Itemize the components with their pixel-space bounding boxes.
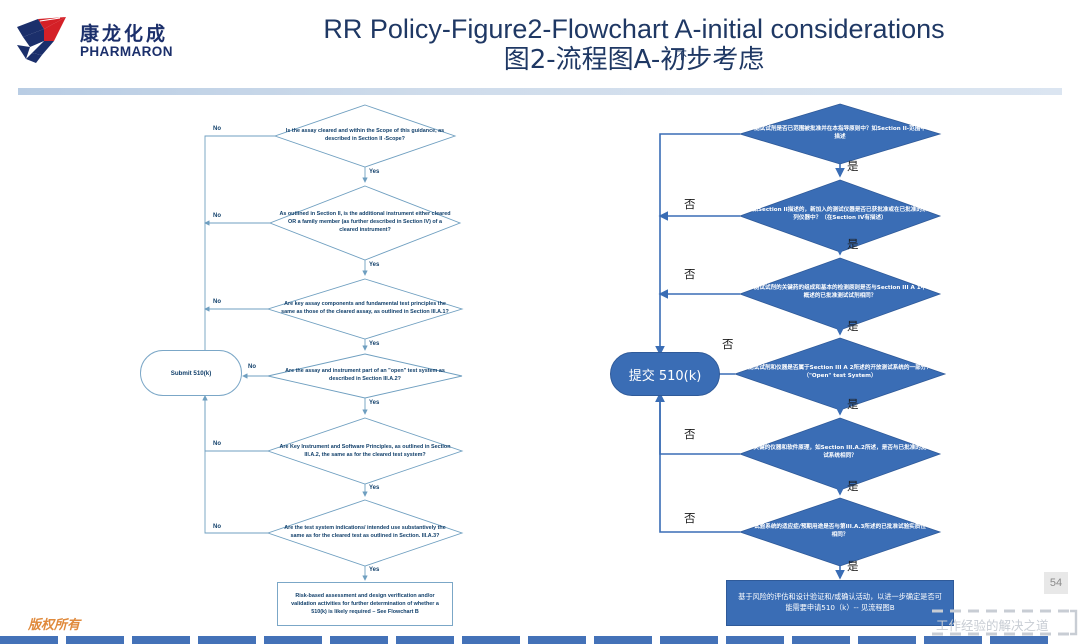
terminator-node-submit-510k: Submit 510(k): [140, 350, 242, 396]
edge-label-no: 否: [684, 196, 696, 212]
edge-label-no: No: [248, 364, 256, 370]
node-text: 测试试剂是否已范围被批准并在本指导原则中？如Section II-范围中描述: [748, 126, 932, 142]
terminator-node-submit-510k: 提交 510(k): [610, 352, 720, 396]
edge-label-yes: 是: [847, 558, 859, 574]
decision-node: 试验系统的适应症/预期用途是否与第III.A.3所述的已批准试验实质性相同？: [748, 502, 932, 562]
edge-label-yes: Yes: [369, 262, 379, 268]
decision-node: 测试试剂和仪器是否属于Section III A 2所述的开放测试系统的一部分？…: [744, 342, 936, 404]
logo-english-name: PHARMARON: [80, 45, 173, 60]
process-node-risk-assessment: Risk-based assessment and design verific…: [277, 582, 453, 626]
decision-node: 测试试剂是否已范围被批准并在本指导原则中？如Section II-范围中描述: [748, 106, 932, 162]
edge-label-no: No: [213, 524, 221, 530]
node-text: 测试试剂的关键药的组成和基本的检测原则是否与Section III A 1中概述…: [748, 285, 932, 301]
decision-node: Is the assay cleared and within the Scop…: [275, 105, 455, 167]
node-text: 如Section II描述的，新加入的测试仪器是否已获批准或在已批准的系列仪器中…: [748, 207, 932, 223]
node-text: 关键的仪器和软件原理，如Section III.A.2所述，是否与已批准的测试系…: [748, 445, 932, 461]
edge-label-yes: Yes: [369, 485, 379, 491]
edge-label-no: No: [213, 213, 221, 219]
edge-label-no: 否: [722, 336, 734, 352]
decision-node: 如Section II描述的，新加入的测试仪器是否已获批准或在已批准的系列仪器中…: [748, 183, 932, 247]
decision-node: Are the assay and instrument part of an …: [272, 352, 458, 400]
node-text: Are the test system indications/ intende…: [272, 525, 458, 541]
node-text: Submit 510(k): [171, 370, 212, 377]
logo-chinese-name: 康龙化成: [80, 25, 173, 45]
slide-title: RR Policy-Figure2-Flowchart A-initial co…: [200, 14, 1068, 76]
pharmaron-logo: 康龙化成 PHARMARON: [14, 10, 194, 72]
edge-label-yes: 是: [847, 236, 859, 252]
flowchart-chinese: 测试试剂是否已范围被批准并在本指导原则中？如Section II-范围中描述 是…: [540, 96, 1080, 644]
node-text: 提交 510(k): [629, 365, 702, 384]
logo-mark-icon: [14, 15, 74, 67]
footer-bar: [0, 636, 1080, 644]
edge-label-yes: 是: [847, 158, 859, 174]
node-text: Are the assay and instrument part of an …: [272, 368, 458, 384]
edge-label-yes: 是: [847, 318, 859, 334]
decision-node: Are key assay components and fundamental…: [272, 281, 458, 337]
node-text: Are Key Instrument and Software Principl…: [272, 444, 458, 460]
decision-node: 测试试剂的关键药的组成和基本的检测原则是否与Section III A 1中概述…: [748, 262, 932, 324]
flowchart-english: Is the assay cleared and within the Scop…: [0, 96, 540, 644]
decision-node: Are Key Instrument and Software Principl…: [272, 421, 458, 483]
edge-label-yes: 是: [847, 478, 859, 494]
decision-node: Are the test system indications/ intende…: [272, 504, 458, 562]
edge-label-no: 否: [684, 510, 696, 526]
decision-node: As outlined in Section II, is the additi…: [272, 188, 458, 258]
node-text: 测试试剂和仪器是否属于Section III A 2所述的开放测试系统的一部分？…: [744, 365, 936, 381]
watermark-text: 工作经验的解决之道: [936, 615, 1049, 634]
edge-label-no: 否: [684, 426, 696, 442]
edge-label-yes: Yes: [369, 341, 379, 347]
node-text: Is the assay cleared and within the Scop…: [275, 128, 455, 144]
node-text: As outlined in Section II, is the additi…: [272, 211, 458, 234]
decision-node: 关键的仪器和软件原理，如Section III.A.2所述，是否与已批准的测试系…: [748, 422, 932, 484]
edge-label-no: No: [213, 299, 221, 305]
edge-label-yes: 是: [847, 396, 859, 412]
title-annotation-mark: 不: [676, 47, 687, 63]
node-text: Risk-based assessment and design verific…: [278, 592, 452, 616]
edge-label-no: 否: [684, 266, 696, 282]
process-node-risk-assessment: 基于风险的评估和设计验证和/或确认活动，以进一步确定是否可能需要申请510（k）…: [726, 580, 954, 626]
edge-label-no: No: [213, 441, 221, 447]
page-number: 54: [1044, 572, 1068, 594]
edge-label-yes: Yes: [369, 400, 379, 406]
copyright-label: 版权所有: [28, 614, 80, 633]
title-english: RR Policy-Figure2-Flowchart A-initial co…: [200, 14, 1068, 45]
node-text: 试验系统的适应症/预期用途是否与第III.A.3所述的已批准试验实质性相同？: [748, 524, 932, 540]
title-chinese: 图2-流程图A-初步考虑: [200, 45, 1068, 76]
node-text: 基于风险的评估和设计验证和/或确认活动，以进一步确定是否可能需要申请510（k）…: [727, 592, 953, 614]
header-divider: [18, 88, 1062, 95]
edge-label-yes: Yes: [369, 567, 379, 573]
slide: 康龙化成 PHARMARON RR Policy-Figure2-Flowcha…: [0, 0, 1080, 644]
edge-label-no: No: [213, 126, 221, 132]
node-text: Are key assay components and fundamental…: [272, 301, 458, 317]
flowchart-english-connectors: [0, 96, 540, 644]
edge-label-yes: Yes: [369, 169, 379, 175]
